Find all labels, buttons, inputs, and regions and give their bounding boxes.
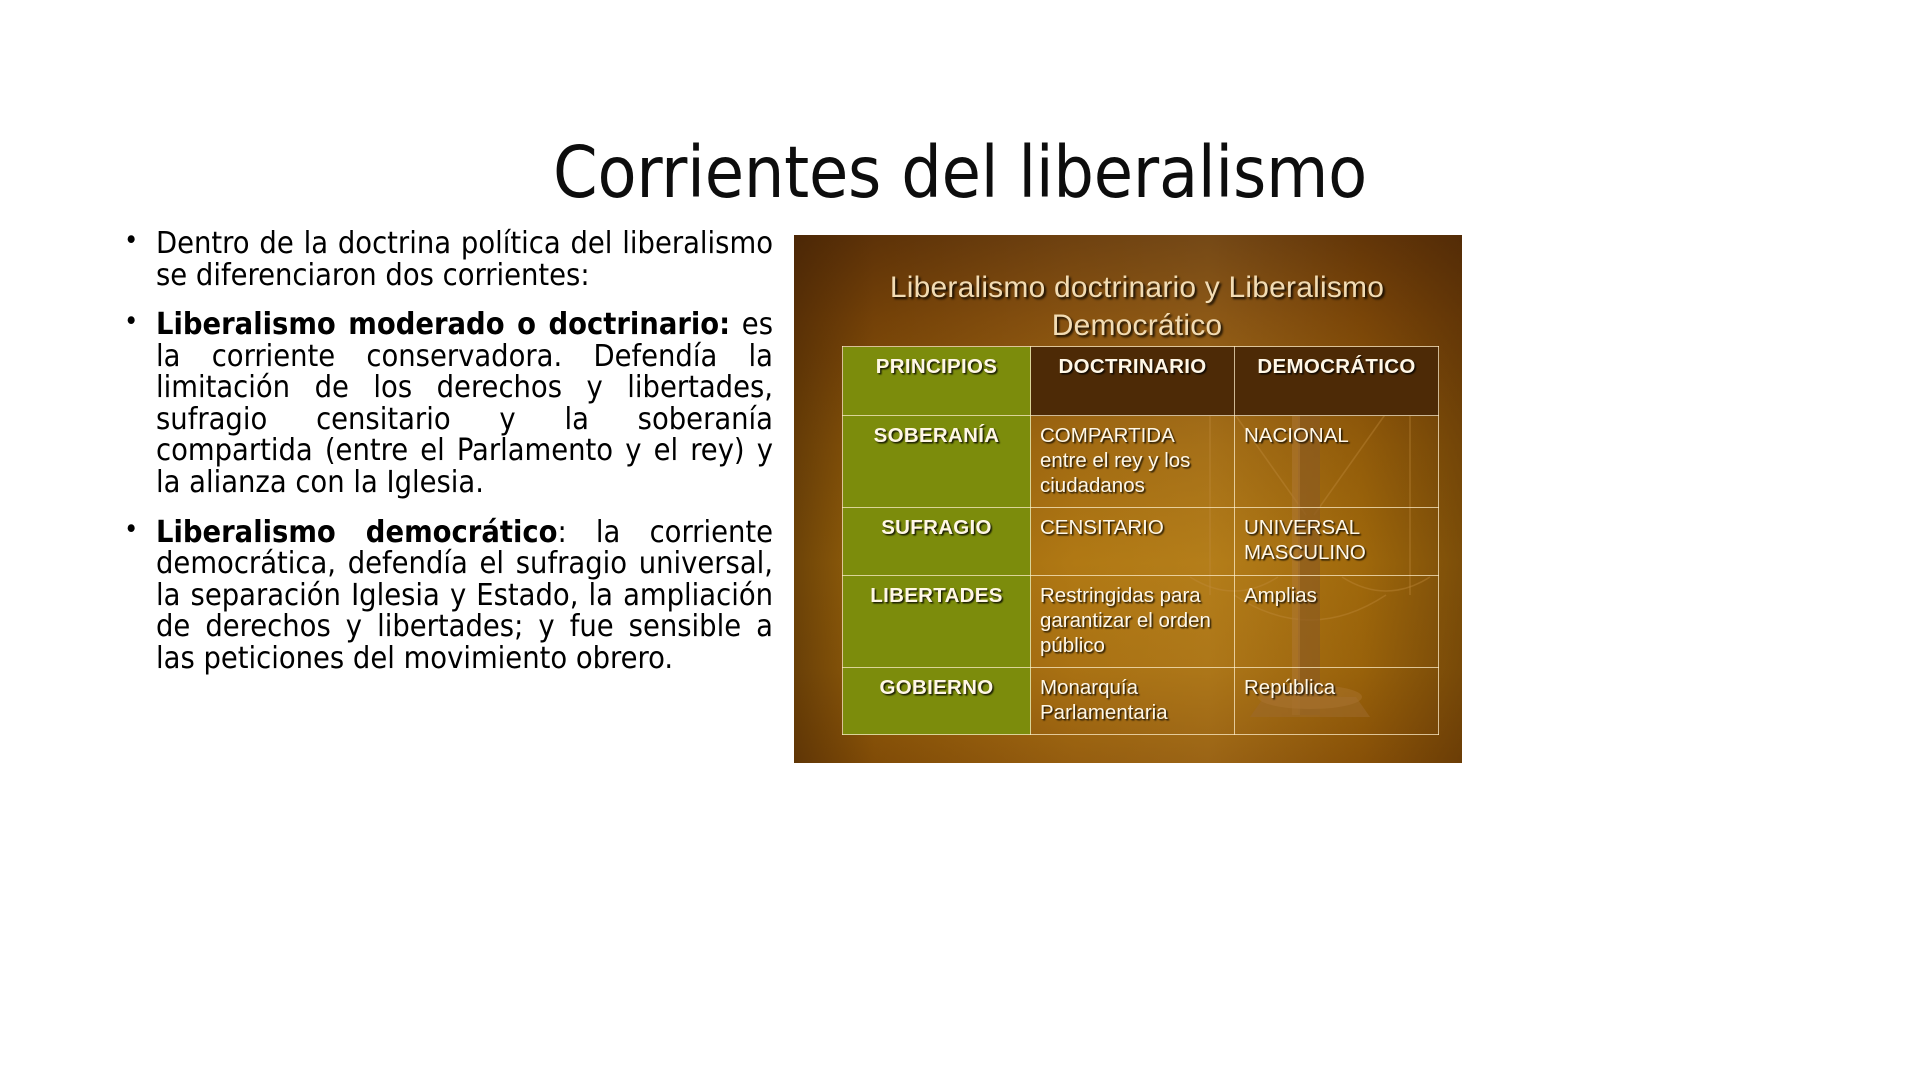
table-header-row: PRINCIPIOS DOCTRINARIO DEMOCRÁTICO	[843, 347, 1439, 416]
cell-soberania-doctrinario: COMPARTIDA entre el rey y los ciudadanos	[1031, 416, 1235, 508]
bullet-lead: Liberalismo democrático	[156, 515, 557, 550]
table-row: SUFRAGIO CENSITARIO UNIVERSAL MASCULINO	[843, 508, 1439, 576]
column-header-principios: PRINCIPIOS	[843, 347, 1031, 416]
table-row: GOBIERNO Monarquía Parlamentaria Repúbli…	[843, 668, 1439, 735]
comparison-table: PRINCIPIOS DOCTRINARIO DEMOCRÁTICO SOBER…	[842, 346, 1439, 735]
cell-gobierno-doctrinario: Monarquía Parlamentaria	[1031, 668, 1235, 735]
column-header-democratico: DEMOCRÁTICO	[1235, 347, 1439, 416]
page-title: Corrientes del liberalismo	[0, 136, 1920, 211]
bullet-text: Dentro de la doctrina política del liber…	[156, 226, 773, 293]
cell-gobierno-democratico: República	[1235, 668, 1439, 735]
list-item: Dentro de la doctrina política del liber…	[118, 228, 773, 291]
comparison-table-image: Liberalismo doctrinario y Liberalismo De…	[794, 235, 1462, 763]
cell-sufragio-doctrinario: CENSITARIO	[1031, 508, 1235, 576]
image-caption: Liberalismo doctrinario y Liberalismo De…	[834, 269, 1440, 346]
table-row: LIBERTADES Restringidas para garantizar …	[843, 576, 1439, 668]
table-row: SOBERANÍA COMPARTIDA entre el rey y los …	[843, 416, 1439, 508]
slide: Corrientes del liberalismo Dentro de la …	[0, 0, 1920, 1080]
bullet-lead: Liberalismo moderado o doctrinario:	[156, 307, 730, 342]
list-item: Liberalismo moderado o doctrinario: es l…	[118, 309, 773, 498]
cell-libertades-democratico: Amplias	[1235, 576, 1439, 668]
row-header-soberania: SOBERANÍA	[843, 416, 1031, 508]
bullet-list: Dentro de la doctrina política del liber…	[118, 228, 773, 674]
list-item: Liberalismo democrático: la corriente de…	[118, 517, 773, 675]
row-header-sufragio: SUFRAGIO	[843, 508, 1031, 576]
row-header-gobierno: GOBIERNO	[843, 668, 1031, 735]
column-header-doctrinario: DOCTRINARIO	[1031, 347, 1235, 416]
cell-soberania-democratico: NACIONAL	[1235, 416, 1439, 508]
row-header-libertades: LIBERTADES	[843, 576, 1031, 668]
cell-libertades-doctrinario: Restringidas para garantizar el orden pú…	[1031, 576, 1235, 668]
cell-sufragio-democratico: UNIVERSAL MASCULINO	[1235, 508, 1439, 576]
